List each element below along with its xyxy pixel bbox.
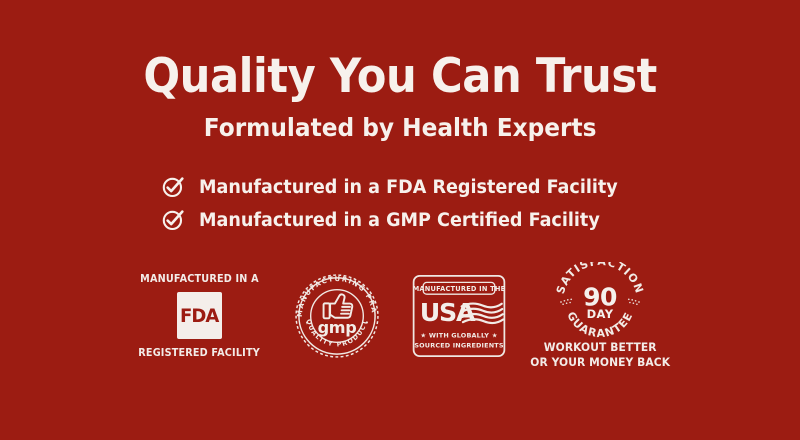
fda-badge-top-text: MANUFACTURED IN A bbox=[140, 273, 259, 285]
page-title: Quality You Can Trust bbox=[143, 52, 657, 101]
guarantee-subtext-line-2: OR YOUR MONEY BACK bbox=[530, 355, 670, 370]
checklist-item-label: Manufactured in a GMP Certified Facility bbox=[199, 210, 600, 231]
fda-logo-mark: FDA bbox=[177, 292, 222, 339]
usa-badge-top-text: MANUFACTURED IN THE bbox=[413, 285, 506, 293]
gmp-arc-top-text: GOOD MANUFACTURING PRACTICES bbox=[291, 270, 378, 317]
check-circle-icon bbox=[161, 175, 185, 199]
guarantee-subtext-line-1: WORKOUT BETTER bbox=[544, 340, 657, 354]
guarantee-subtext: WORKOUT BETTER OR YOUR MONEY BACK bbox=[530, 340, 670, 369]
svg-text:★WITH GLOBALLY★: ★WITH GLOBALLY★ bbox=[420, 331, 497, 339]
fda-logo-text: FDA bbox=[180, 305, 218, 327]
checklist-item-label: Manufactured in a FDA Registered Facilit… bbox=[199, 177, 618, 198]
usa-bottom-line-2: SOURCED INGREDIENTS bbox=[414, 341, 503, 349]
svg-text:GOOD MANUFACTURING PRACTICES: GOOD MANUFACTURING PRACTICES bbox=[291, 270, 378, 317]
certification-badge-row: MANUFACTURED IN A FDA REGISTERED FACILIT… bbox=[135, 262, 665, 369]
thumbs-up-icon bbox=[324, 295, 353, 319]
usa-badge-graphic: MANUFACTURED IN THE USA ★WITH GLOBALLY★ … bbox=[411, 273, 507, 359]
satisfaction-guarantee-badge: SATISFACTION GUARANTEE bbox=[535, 262, 665, 369]
usa-star-right: ★ bbox=[492, 331, 498, 339]
checklist-item-gmp: Manufactured in a GMP Certified Facility bbox=[161, 208, 640, 232]
laurel-flourish-left bbox=[560, 299, 572, 306]
fda-registered-facility-badge: MANUFACTURED IN A FDA REGISTERED FACILIT… bbox=[135, 273, 263, 359]
guarantee-seal-graphic: SATISFACTION GUARANTEE bbox=[548, 262, 652, 340]
quality-trust-banner: Quality You Can Trust Formulated by Heal… bbox=[0, 0, 800, 440]
gmp-quality-product-seal: GOOD MANUFACTURING PRACTICES QUALITY PRO… bbox=[291, 270, 383, 362]
laurel-flourish-right bbox=[628, 299, 640, 306]
page-subtitle: Formulated by Health Experts bbox=[204, 113, 597, 142]
gmp-wordmark: gmp bbox=[318, 318, 357, 337]
manufactured-in-usa-badge: MANUFACTURED IN THE USA ★WITH GLOBALLY★ … bbox=[411, 273, 507, 359]
usa-star-left: ★ bbox=[420, 331, 426, 339]
usa-bottom-line-1: WITH GLOBALLY bbox=[429, 331, 489, 339]
checklist-item-fda: Manufactured in a FDA Registered Facilit… bbox=[161, 175, 640, 199]
trust-checklist: Manufactured in a FDA Registered Facilit… bbox=[161, 175, 640, 232]
fda-badge-bottom-text: REGISTERED FACILITY bbox=[138, 347, 260, 359]
guarantee-days-unit: DAY bbox=[587, 307, 614, 321]
gmp-seal-graphic: GOOD MANUFACTURING PRACTICES QUALITY PRO… bbox=[291, 270, 383, 362]
usa-wordmark: USA bbox=[420, 298, 476, 327]
check-circle-icon bbox=[161, 208, 185, 232]
